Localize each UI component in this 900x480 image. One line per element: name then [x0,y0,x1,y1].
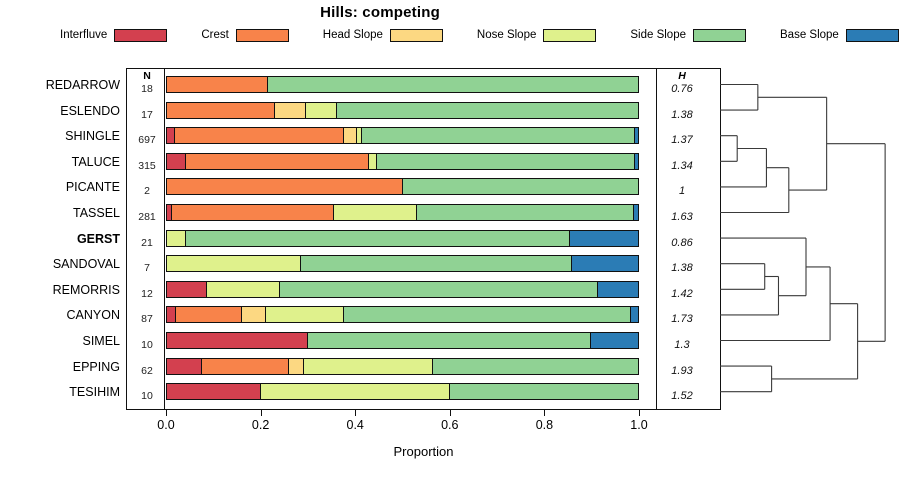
bar-segment-side-slope [433,359,638,374]
x-tick [639,410,640,416]
stacked-bar[interactable] [166,383,639,400]
x-axis: 0.00.20.40.60.81.0 [126,410,721,440]
stacked-bar[interactable] [166,178,639,195]
x-tick-label: 0.2 [252,418,269,432]
stacked-bar[interactable] [166,204,639,221]
bar-segment-base-slope [635,154,638,169]
row-n-value: 10 [130,340,164,351]
bar-segment-base-slope [591,333,638,348]
bar-segment-crest [167,179,403,194]
bar-segment-crest [172,205,334,220]
row-n-value: 315 [130,161,164,172]
bar-segment-interfluve [167,384,261,399]
row-h-value: 0.86 [660,238,704,249]
stacked-bar[interactable] [166,358,639,375]
bar-segment-nose-slope [167,231,186,246]
bar-segment-crest [186,154,369,169]
bar-segment-base-slope [570,231,638,246]
legend-label: Nose Slope [477,29,536,41]
row-label-redarrow[interactable]: REDARROW [0,79,120,91]
row-h-value: 1.93 [660,366,704,377]
row-label-gerst[interactable]: GERST [0,233,120,245]
row-label-tesihim[interactable]: TESIHIM [0,386,120,398]
bar-segment-interfluve [167,333,308,348]
bar-segment-side-slope [403,179,639,194]
bar-segment-nose-slope [261,384,449,399]
legend-swatch [390,29,443,42]
row-n-value: 18 [130,84,164,95]
bar-segment-crest [202,359,289,374]
row-h-value: 1.42 [660,289,704,300]
panel-divider-left [164,68,165,410]
bar-segment-side-slope [280,282,598,297]
legend-swatch [543,29,596,42]
bar-segment-nose-slope [266,307,344,322]
row-label-taluce[interactable]: TALUCE [0,156,120,168]
stacked-bar[interactable] [166,281,639,298]
x-tick-label: 0.6 [441,418,458,432]
stacked-bar[interactable] [166,153,639,170]
bar-segment-nose-slope [369,154,377,169]
x-tick [261,410,262,416]
legend-item-head-slope[interactable]: Head Slope [323,29,443,42]
row-n-value: 21 [130,238,164,249]
x-axis-label: Proportion [126,444,721,459]
column-header-n: N [130,70,164,82]
stacked-bar[interactable] [166,306,639,323]
row-h-value: 0.76 [660,84,704,95]
row-h-value: 1.34 [660,161,704,172]
stacked-bar[interactable] [166,230,639,247]
bar-segment-interfluve [167,359,202,374]
legend-swatch [693,29,746,42]
x-tick-label: 0.0 [157,418,174,432]
row-n-value: 12 [130,289,164,300]
row-h-value: 1.38 [660,263,704,274]
bar-segment-nose-slope [304,359,434,374]
bar-segment-base-slope [635,128,638,143]
stacked-bar[interactable] [166,102,639,119]
row-label-canyon[interactable]: CANYON [0,309,120,321]
bar-segment-side-slope [337,103,638,118]
legend-label: Side Slope [630,29,686,41]
row-h-value: 1.38 [660,110,704,121]
panel-divider-right [656,68,657,410]
row-n-value: 10 [130,391,164,402]
bar-segment-base-slope [598,282,638,297]
row-label-shingle[interactable]: SHINGLE [0,130,120,142]
bar-segment-crest [176,307,242,322]
stacked-bar[interactable] [166,255,639,272]
row-label-sandoval[interactable]: SANDOVAL [0,258,120,270]
row-n-value: 2 [130,186,164,197]
row-n-value: 87 [130,314,164,325]
row-label-eslendo[interactable]: ESLENDO [0,105,120,117]
row-n-value: 697 [130,135,164,146]
row-label-epping[interactable]: EPPING [0,361,120,373]
bar-segment-interfluve [167,128,175,143]
bar-segment-side-slope [362,128,634,143]
bar-segment-interfluve [167,282,207,297]
row-h-value: 1.52 [660,391,704,402]
stacked-bar[interactable] [166,332,639,349]
legend-label: Interfluve [60,29,107,41]
row-label-picante[interactable]: PICANTE [0,181,120,193]
legend-swatch [114,29,167,42]
bar-segment-base-slope [572,256,638,271]
row-h-value: 1.37 [660,135,704,146]
legend-swatch [236,29,289,42]
bar-segment-nose-slope [167,256,301,271]
bar-segment-head-slope [344,128,357,143]
x-tick [450,410,451,416]
row-n-value: 17 [130,110,164,121]
bar-segment-interfluve [167,154,186,169]
bar-segment-base-slope [631,307,638,322]
legend-item-crest[interactable]: Crest [201,29,288,42]
bar-segment-crest [167,77,268,92]
bar-segment-head-slope [275,103,306,118]
bar-segment-side-slope [377,154,635,169]
row-n-value: 62 [130,366,164,377]
legend-item-side-slope[interactable]: Side Slope [630,29,746,42]
bar-segment-side-slope [417,205,635,220]
x-tick [355,410,356,416]
chart-title: Hills: competing [0,4,760,21]
bar-segment-crest [167,103,275,118]
x-tick [166,410,167,416]
stacked-bar[interactable] [166,127,639,144]
x-tick-label: 1.0 [630,418,647,432]
x-tick-label: 0.4 [346,418,363,432]
legend-swatch [846,29,899,42]
bar-segment-head-slope [289,359,303,374]
x-tick [544,410,545,416]
dendrogram [718,68,898,410]
row-n-value: 7 [130,263,164,274]
legend-label: Crest [201,29,228,41]
bar-segment-side-slope [308,333,591,348]
bar-segment-side-slope [268,77,638,92]
legend-item-interfluve[interactable]: Interfluve [60,29,167,42]
bar-segment-crest [175,128,343,143]
bar-segment-interfluve [167,307,176,322]
column-header-h: H [660,70,704,82]
stacked-bar[interactable] [166,76,639,93]
bar-segment-side-slope [301,256,572,271]
row-n-value: 281 [130,212,164,223]
row-h-value: 1 [660,186,704,197]
legend-label: Head Slope [323,29,383,41]
row-label-tassel[interactable]: TASSEL [0,207,120,219]
bar-segment-nose-slope [306,103,337,118]
row-h-value: 1.3 [660,340,704,351]
bar-segment-side-slope [450,384,638,399]
legend-label: Base Slope [780,29,839,41]
bar-segment-base-slope [634,205,638,220]
bar-segment-nose-slope [207,282,280,297]
legend-item-base-slope[interactable]: Base Slope [780,29,899,42]
legend: InterfluveCrestHead SlopeNose SlopeSide … [60,26,850,44]
row-label-simel[interactable]: SIMEL [0,335,120,347]
row-h-value: 1.63 [660,212,704,223]
legend-item-nose-slope[interactable]: Nose Slope [477,29,596,42]
bar-segment-side-slope [186,231,570,246]
row-h-value: 1.73 [660,314,704,325]
bar-segment-nose-slope [334,205,416,220]
bar-segment-side-slope [344,307,631,322]
row-label-remorris[interactable]: REMORRIS [0,284,120,296]
bar-segment-head-slope [242,307,266,322]
dendrogram-svg [718,68,898,410]
x-tick-label: 0.8 [536,418,553,432]
